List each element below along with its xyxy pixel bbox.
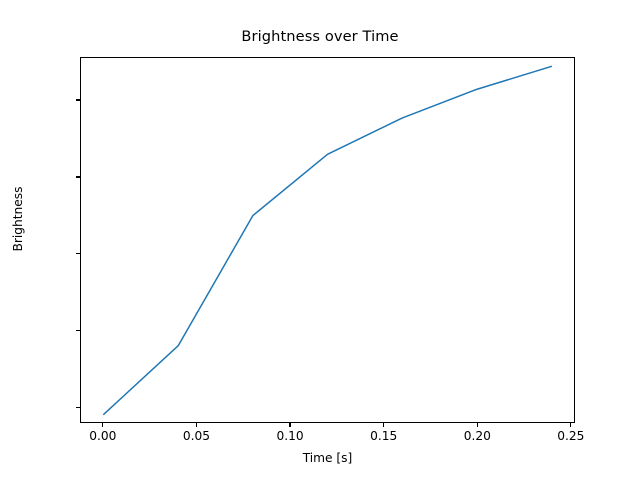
- x-tick-label: 0.10: [255, 429, 325, 443]
- plot-area: [80, 57, 575, 423]
- x-tick-mark: [196, 423, 197, 427]
- x-tick-mark: [570, 423, 571, 427]
- y-tick-mark: [76, 407, 80, 408]
- line-series-svg: [81, 58, 574, 422]
- x-tick-mark: [102, 423, 103, 427]
- x-tick-mark: [477, 423, 478, 427]
- x-tick-label: 0.20: [442, 429, 512, 443]
- x-tick-label: 0.00: [68, 429, 138, 443]
- x-tick-mark: [289, 423, 290, 427]
- figure-canvas: Brightness over Time 120140160180200 0.0…: [0, 0, 640, 480]
- y-tick-mark: [76, 253, 80, 254]
- y-tick-mark: [76, 330, 80, 331]
- y-tick-mark: [76, 99, 80, 100]
- y-axis-label: Brightness: [11, 119, 25, 319]
- y-tick-mark: [76, 176, 80, 177]
- x-tick-label: 0.05: [161, 429, 231, 443]
- x-tick-label: 0.25: [536, 429, 606, 443]
- x-axis-label: Time [s]: [80, 451, 575, 465]
- brightness-line: [104, 66, 552, 414]
- chart-title: Brightness over Time: [0, 28, 640, 45]
- x-tick-mark: [383, 423, 384, 427]
- x-tick-label: 0.15: [349, 429, 419, 443]
